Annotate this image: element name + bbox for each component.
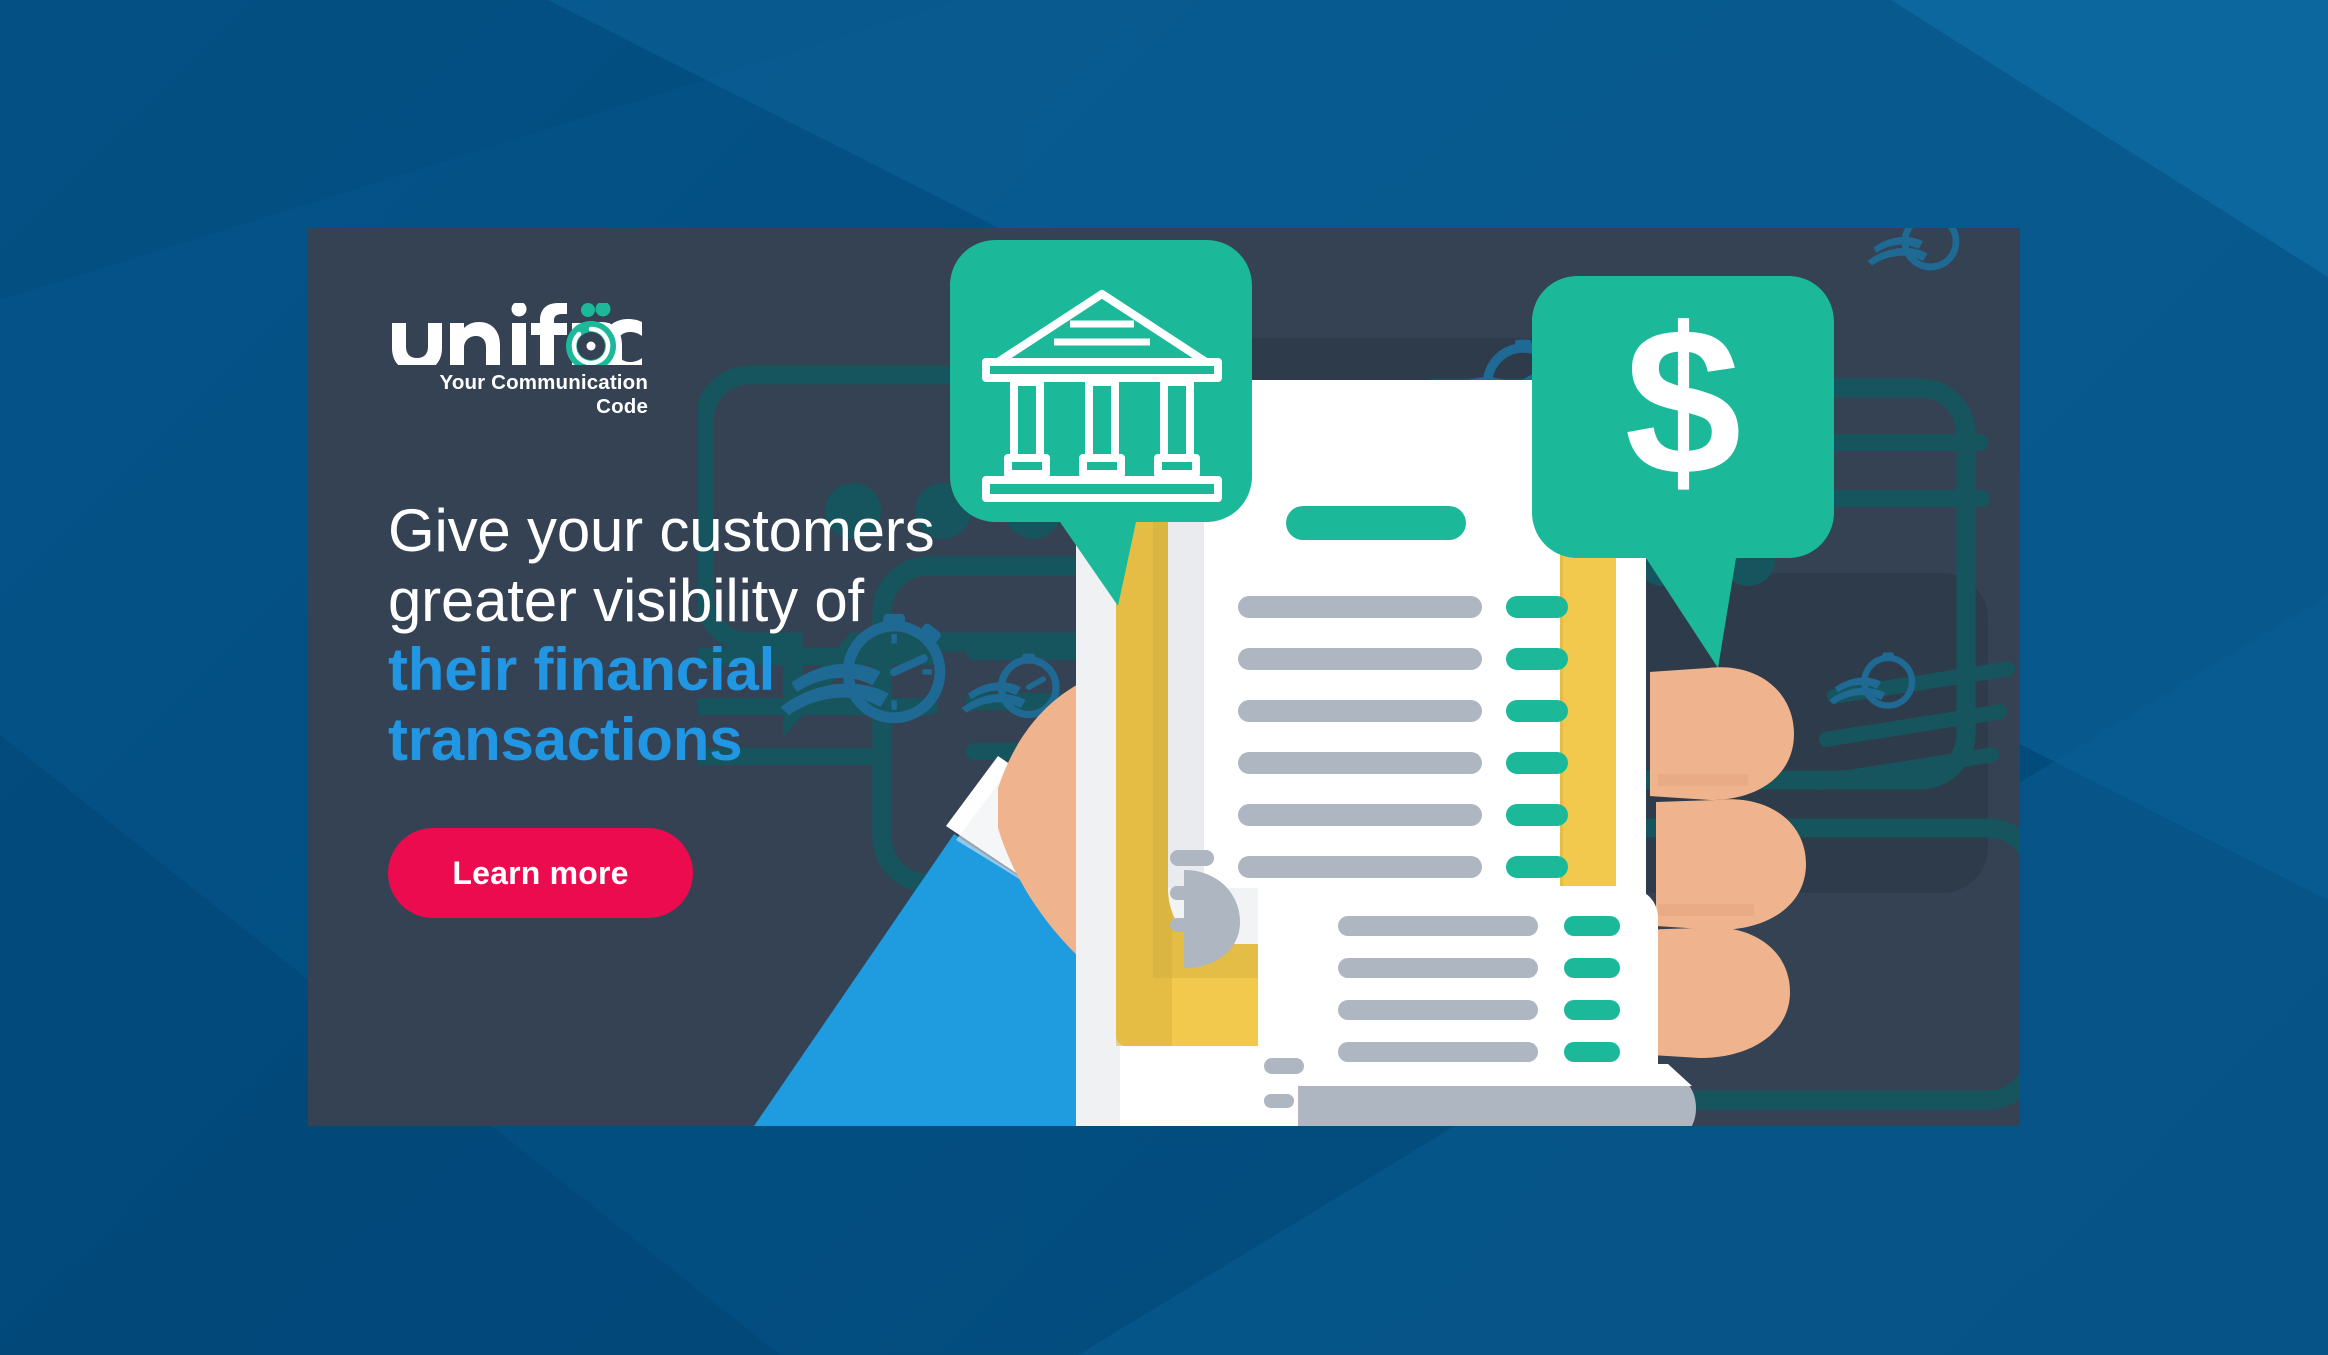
brand-tagline: Your Communication Code <box>388 371 648 419</box>
unifonic-wordmark <box>388 303 644 365</box>
headline-line-1: Give your customers <box>388 497 934 564</box>
banner-canvas: $ <box>0 0 2328 1355</box>
receipt-secondary <box>1258 886 1696 1126</box>
headline-accent-1: their financial <box>388 636 775 703</box>
logo-dot-accent <box>581 303 595 317</box>
headline-accent-2: transactions <box>388 706 742 773</box>
learn-more-button[interactable]: Learn more <box>388 828 693 918</box>
receipt-title-bar <box>1286 506 1466 540</box>
dollar-sign-icon: $ <box>1625 284 1742 519</box>
banner-content: Your Communication Code Give your custom… <box>378 228 1078 1126</box>
brand-logo[interactable]: Your Communication Code <box>388 303 648 419</box>
promo-banner-card: $ <box>308 228 2020 1126</box>
page-title: Give your customers greater visibility o… <box>388 496 1068 774</box>
headline-line-2: greater visibility of <box>388 567 864 634</box>
